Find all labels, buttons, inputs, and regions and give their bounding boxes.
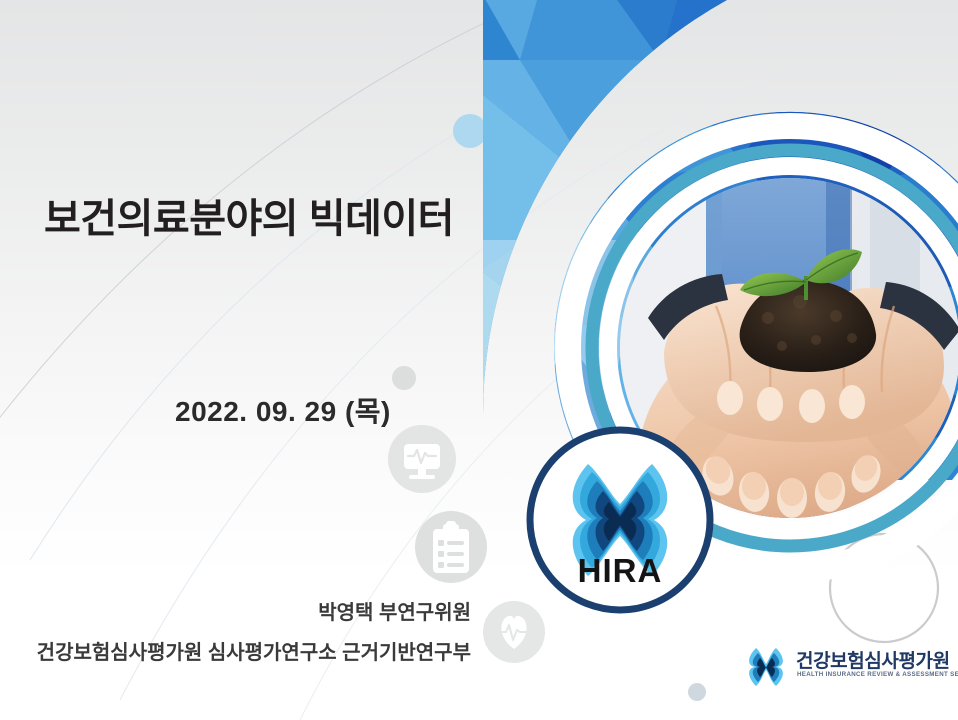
decor-dot-bottom [688,683,706,701]
presentation-title-slide: 보건의료분야의 빅데이터 2022. 09. 29 (목) 박영택 부연구위원 … [0,0,958,720]
presenter-affiliation: 건강보험심사평가원 심사평가연구소 근거기반연구부 [37,636,471,665]
corporate-logo-mark-icon [742,644,790,690]
presenter-name: 박영택 부연구위원 [318,596,471,625]
corporate-logo: 건강보험심사평가원 HEALTH INSURANCE REVIEW & ASSE… [742,644,952,692]
slide-background-art [0,0,958,720]
presentation-date: 2022. 09. 29 (목) [175,390,391,430]
decor-dot-gray-small [392,366,416,390]
hira-wordmark: HIRA [524,552,716,590]
hira-emblem: HIRA [524,424,716,616]
corporate-logo-english-name: HEALTH INSURANCE REVIEW & ASSESSMENT SER… [797,671,958,678]
icon-circle-monitor-ecg [388,425,456,493]
page-title: 보건의료분야의 빅데이터 [44,186,454,244]
decor-dot-blue [453,114,487,148]
corporate-logo-korean-name: 건강보험심사평가원 [796,646,950,673]
icon-circle-clipboard-checklist [415,511,487,583]
